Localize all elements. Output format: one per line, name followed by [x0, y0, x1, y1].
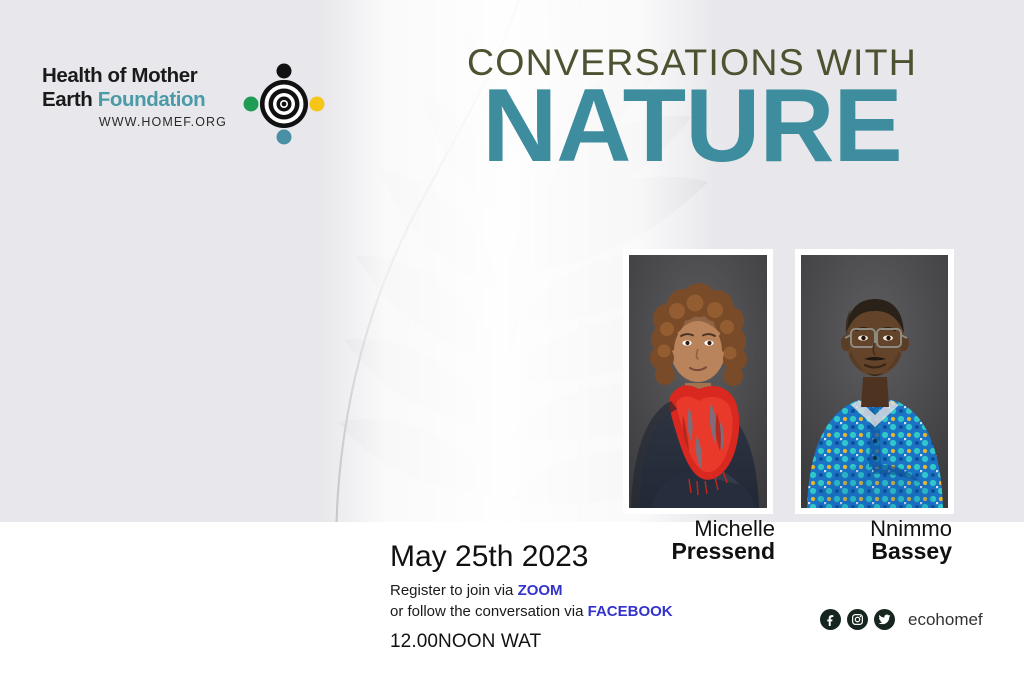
register-line: Register to join via ZOOM	[390, 580, 710, 601]
zoom-link[interactable]: ZOOM	[518, 582, 563, 599]
register-prefix-text: Register to join via	[390, 582, 518, 599]
speaker-photo-michelle-pressend	[623, 249, 773, 514]
speaker-last-name: Bassey	[780, 540, 952, 563]
homef-logo[interactable]: Health of Mother Earth Foundation WWW.HO…	[42, 58, 332, 153]
headline-main-line: NATURE	[430, 78, 954, 175]
speaker-photo-nnimmo-bassey	[795, 249, 954, 514]
speaker-first-name: Nnimmo	[780, 518, 952, 540]
social-handle: ecohomef	[908, 610, 983, 630]
social-bar: ecohomef	[820, 609, 983, 630]
homef-logo-wordmark: Health of Mother Earth Foundation WWW.HO…	[42, 64, 227, 129]
facebook-icon[interactable]	[820, 609, 841, 630]
logo-website-url: WWW.HOMEF.ORG	[42, 115, 227, 129]
headline: CONVERSATIONS WITH NATURE	[430, 44, 954, 174]
speaker-first-name: Michelle	[600, 518, 775, 540]
event-date: May 25th 2023	[390, 540, 710, 573]
homef-target-icon	[238, 58, 330, 150]
event-details: May 25th 2023 Register to join via ZOOM …	[390, 540, 710, 653]
photo-image	[801, 255, 948, 508]
poster-canvas: Health of Mother Earth Foundation WWW.HO…	[0, 0, 1024, 683]
twitter-icon[interactable]	[874, 609, 895, 630]
instagram-icon[interactable]	[847, 609, 868, 630]
follow-prefix-text: or follow the conversation via	[390, 603, 588, 620]
logo-line-two: Earth Foundation	[42, 88, 227, 112]
follow-line: or follow the conversation via FACEBOOK	[390, 601, 710, 622]
photo-image	[629, 255, 767, 508]
logo-line-one: Health of Mother	[42, 64, 227, 88]
event-time: 12.00NOON WAT	[390, 631, 710, 653]
facebook-link[interactable]: FACEBOOK	[588, 603, 673, 620]
speaker-name-nnimmo-bassey: Nnimmo Bassey	[780, 518, 952, 564]
logo-earth-text: Earth	[42, 88, 98, 111]
logo-foundation-text: Foundation	[98, 88, 206, 111]
